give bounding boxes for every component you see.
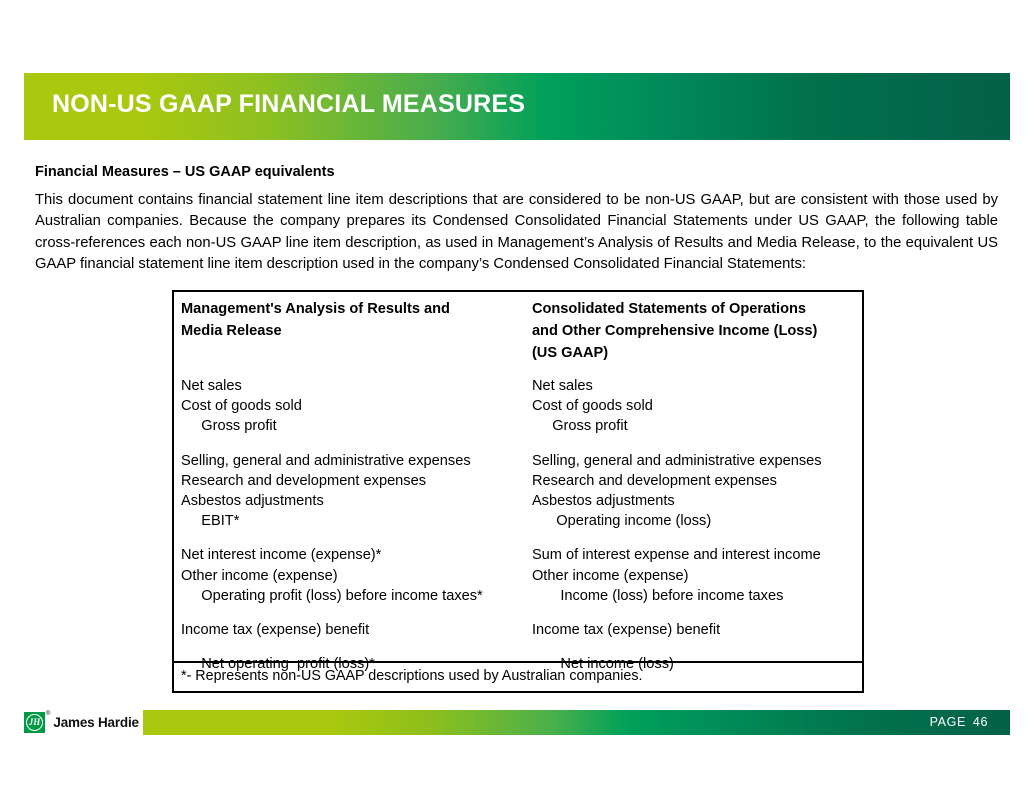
list-item: Operating income (loss) [532,511,862,531]
xref-header-right-line-2: and Other Comprehensive Income (Loss) [532,320,862,342]
list-item: Other income (expense) [181,566,530,586]
xref-header-right-line-1: Consolidated Statements of Operations [532,298,862,320]
slide: NON-US GAAP FINANCIAL MEASURES Financial… [0,0,1034,799]
list-item: Sum of interest expense and interest inc… [532,545,862,565]
list-item: EBIT* [181,511,530,531]
xref-group-3-left: Net interest income (expense)* Other inc… [174,545,530,606]
table-row: Net sales Cost of goods sold Gross profi… [174,376,862,437]
xref-group-2-right: Selling, general and administrative expe… [530,451,862,532]
xref-group-tax: Income tax (expense) benefit Income tax … [174,620,862,640]
list-item: Asbestos adjustments [181,491,530,511]
list-item: Net interest income (expense)* [181,545,530,565]
list-item: Income (loss) before income taxes [532,586,862,606]
xref-footnote: *- Represents non-US GAAP descriptions u… [181,667,642,686]
table-row: Net interest income (expense)* Other inc… [174,545,862,606]
list-item: Research and development expenses [532,471,862,491]
intro-heading: Financial Measures – US GAAP equivalents [35,163,998,181]
xref-group-4-left: Income tax (expense) benefit [174,620,530,640]
list-item: Cost of goods sold [532,396,862,416]
table-row: Management's Analysis of Results and Med… [174,298,862,365]
xref-group-2-left: Selling, general and administrative expe… [174,451,530,532]
footer-bar: PAGE46 [143,710,1010,735]
xref-group-3-right: Sum of interest expense and interest inc… [530,545,862,606]
james-hardie-logo-icon: JH [24,712,45,733]
xref-header-left-column: Management's Analysis of Results and Med… [174,298,530,365]
page-title: NON-US GAAP FINANCIAL MEASURES [52,90,525,119]
list-item: Operating profit (loss) before income ta… [181,586,530,606]
table-row: Selling, general and administrative expe… [174,451,862,532]
footnote-divider [174,661,862,663]
list-item: Net sales [181,376,530,396]
page-indicator: PAGE46 [930,715,988,729]
brand-logo: JH ® James Hardie [24,710,139,735]
list-item: Income tax (expense) benefit [532,620,862,640]
logo-wordmark: James Hardie [53,715,138,730]
xref-table: Management's Analysis of Results and Med… [172,290,864,693]
page-number: 46 [973,715,988,729]
xref-group-pretax: Net interest income (expense)* Other inc… [174,545,862,606]
logo-monogram: JH [29,718,41,727]
xref-group-operating: Selling, general and administrative expe… [174,451,862,532]
intro-paragraph: This document contains financial stateme… [35,190,998,275]
list-item: Gross profit [532,416,862,436]
xref-table-body: Net sales Cost of goods sold Gross profi… [174,376,862,674]
list-item: Net sales [532,376,862,396]
list-item: Selling, general and administrative expe… [532,451,862,471]
intro-block: Financial Measures – US GAAP equivalents… [35,163,998,275]
list-item: Other income (expense) [532,566,862,586]
xref-header-left-line-2: Media Release [181,320,530,342]
xref-group-1-left: Net sales Cost of goods sold Gross profi… [174,376,530,437]
xref-header-left-line-1: Management's Analysis of Results and [181,298,530,320]
list-item: Cost of goods sold [181,396,530,416]
xref-group-1-right: Net sales Cost of goods sold Gross profi… [530,376,862,437]
xref-header-right-line-3: (US GAAP) [532,342,862,364]
list-item: Asbestos adjustments [532,491,862,511]
list-item: Selling, general and administrative expe… [181,451,530,471]
xref-group-sales: Net sales Cost of goods sold Gross profi… [174,376,862,437]
list-item: Income tax (expense) benefit [181,620,530,640]
title-banner: NON-US GAAP FINANCIAL MEASURES [24,73,1010,140]
list-item: Gross profit [181,416,530,436]
xref-header-right-column: Consolidated Statements of Operations an… [530,298,862,365]
list-item: Research and development expenses [181,471,530,491]
page-label-text: PAGE [930,715,966,729]
logo-ring: JH [26,714,43,731]
registered-trademark-icon: ® [46,711,50,717]
xref-group-4-right: Income tax (expense) benefit [530,620,862,640]
table-row: Income tax (expense) benefit Income tax … [174,620,862,640]
xref-table-header: Management's Analysis of Results and Med… [174,292,862,365]
